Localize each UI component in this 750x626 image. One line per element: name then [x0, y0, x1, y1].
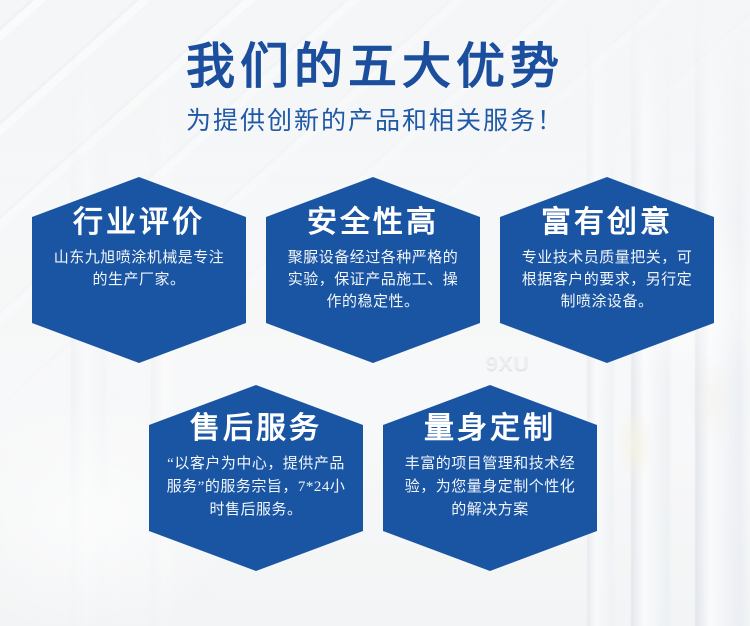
- advantage-title: 安全性高: [278, 205, 468, 241]
- advantage-content: 量身定制 丰富的项目管理和技术经验，为您量身定制个性化的解决方案: [395, 385, 585, 522]
- advantage-hexagon-tailor-made[interactable]: 量身定制 丰富的项目管理和技术经验，为您量身定制个性化的解决方案: [383, 385, 597, 571]
- advantage-title: 量身定制: [395, 411, 585, 447]
- advantage-body: 专业技术员质量把关，可根据客户的要求，另行定制喷涂设备。: [512, 247, 702, 313]
- page-subtitle: 为提供创新的产品和相关服务！: [0, 104, 750, 138]
- advantage-body: 山东九旭喷涂机械是专注的生产厂家。: [44, 247, 234, 291]
- advantage-hexagon-industry-evaluation[interactable]: 行业评价 山东九旭喷涂机械是专注的生产厂家。: [32, 177, 246, 363]
- advantage-body: 聚脲设备经过各种严格的实验，保证产品施工、操作的稳定性。: [278, 247, 468, 313]
- advantage-title: 行业评价: [44, 205, 234, 241]
- page-title: 我们的五大优势: [0, 38, 750, 96]
- advantage-hexagon-creative[interactable]: 富有创意 专业技术员质量把关，可根据客户的要求，另行定制喷涂设备。: [500, 177, 714, 363]
- promo-banner: 9XU 我们的五大优势 为提供创新的产品和相关服务！ 行业评价 山东九旭喷涂机械…: [0, 0, 750, 626]
- brand-watermark: 9XU: [486, 352, 530, 376]
- advantage-hexagon-high-safety[interactable]: 安全性高 聚脲设备经过各种严格的实验，保证产品施工、操作的稳定性。: [266, 177, 480, 363]
- heading-block: 我们的五大优势 为提供创新的产品和相关服务！: [0, 38, 750, 138]
- advantage-title: 售后服务: [161, 411, 351, 447]
- advantage-hexagon-after-sales-service[interactable]: 售后服务 “以客户为中心，提供产品服务”的服务宗旨，7*24小时售后服务。: [149, 385, 363, 571]
- advantage-content: 富有创意 专业技术员质量把关，可根据客户的要求，另行定制喷涂设备。: [512, 177, 702, 313]
- advantage-title: 富有创意: [512, 205, 702, 241]
- advantage-body: 丰富的项目管理和技术经验，为您量身定制个性化的解决方案: [395, 453, 585, 522]
- advantage-content: 售后服务 “以客户为中心，提供产品服务”的服务宗旨，7*24小时售后服务。: [161, 385, 351, 522]
- advantage-body: “以客户为中心，提供产品服务”的服务宗旨，7*24小时售后服务。: [161, 453, 351, 522]
- advantage-content: 行业评价 山东九旭喷涂机械是专注的生产厂家。: [44, 177, 234, 291]
- advantage-content: 安全性高 聚脲设备经过各种严格的实验，保证产品施工、操作的稳定性。: [278, 177, 468, 313]
